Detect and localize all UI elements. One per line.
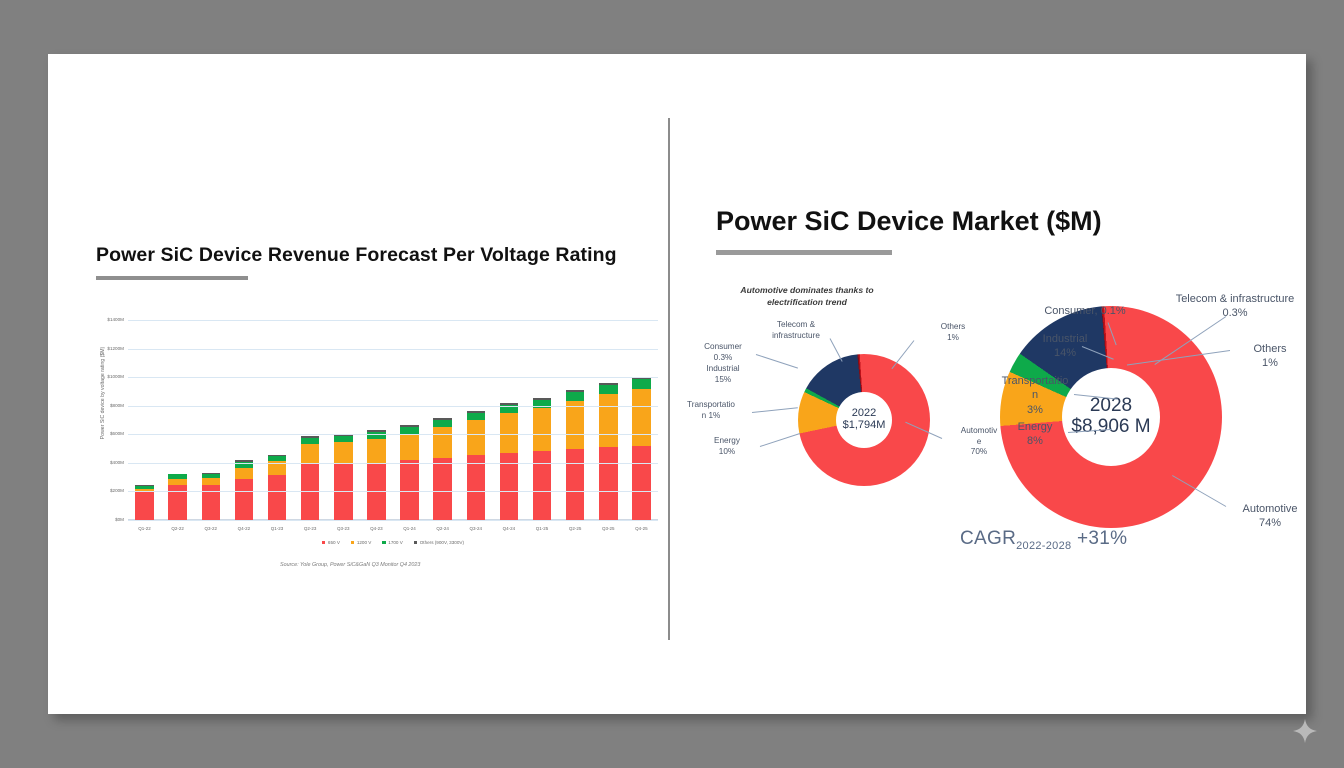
- cagr-annotation: CAGR2022-2028 +31%: [960, 528, 1127, 552]
- legend-item: 1200 V: [351, 540, 371, 545]
- y-axis-tick-label: $1400M: [80, 317, 124, 322]
- stacked-bar: [467, 411, 486, 520]
- y-axis-tick-label: $400M: [80, 460, 124, 465]
- y-axis-tick-label: $800M: [80, 403, 124, 408]
- x-axis-tick-label: Q4-25: [625, 526, 658, 531]
- legend-swatch: [322, 541, 325, 544]
- bar-segment: [400, 427, 419, 434]
- legend-label: 1700 V: [388, 540, 403, 545]
- legend-label: Others (900V, 3300V): [420, 540, 464, 545]
- bar-segment: [467, 455, 486, 520]
- grid-line: [128, 377, 658, 378]
- bar-slot: [592, 320, 625, 520]
- bar-segment: [433, 458, 452, 520]
- donut-2022-slice-label: Telecom & infrastructure: [758, 320, 834, 341]
- bar-segment: [632, 379, 651, 388]
- legend-swatch: [351, 541, 354, 544]
- donut-2022-slice-label: Consumer 0.3%: [692, 342, 754, 363]
- grid-line: [128, 463, 658, 464]
- bar-slot: [194, 320, 227, 520]
- bar-segment: [500, 413, 519, 453]
- bar-slot: [360, 320, 393, 520]
- legend-label: 650 V: [328, 540, 340, 545]
- bar-slot: [426, 320, 459, 520]
- x-axis-tick-label: Q1-22: [128, 526, 161, 531]
- y-axis-tick-label: $600M: [80, 431, 124, 436]
- donut-2028-slice-label: Transportaitio n 3%: [990, 374, 1080, 417]
- bar-slot: [526, 320, 559, 520]
- donut-2022-slice-label: Transportatio n 1%: [672, 400, 750, 421]
- bar-segment: [632, 389, 651, 446]
- donut-2028-year: 2028: [1090, 396, 1132, 417]
- right-title-rule: [716, 250, 892, 255]
- grid-line: [128, 434, 658, 435]
- bar-slot: [261, 320, 294, 520]
- legend-swatch: [414, 541, 417, 544]
- stacked-bar: [301, 436, 320, 520]
- stacked-bar: [268, 455, 287, 520]
- x-axis-tick-label: Q4-24: [492, 526, 525, 531]
- bar-slot: [327, 320, 360, 520]
- x-axis-tick-label: Q3-24: [459, 526, 492, 531]
- y-axis-tick-label: $200M: [80, 488, 124, 493]
- stacked-bar: [334, 434, 353, 520]
- legend-label: 1200 V: [357, 540, 372, 545]
- x-axis-tick-label: Q4-22: [227, 526, 260, 531]
- bar-segment: [433, 420, 452, 427]
- donut-2028-slice-label: Others 1%: [1238, 342, 1302, 371]
- cagr-label: CAGR: [960, 528, 1016, 549]
- bar-slot: [492, 320, 525, 520]
- grid-line: [128, 406, 658, 407]
- donut-2028-value: $8,906 M: [1071, 417, 1150, 438]
- slide-canvas: Power SiC Device Revenue Forecast Per Vo…: [48, 54, 1306, 714]
- donut-2022-value: $1,794M: [843, 420, 886, 432]
- y-axis-tick-label: $1200M: [80, 346, 124, 351]
- stacked-bar: [202, 473, 221, 520]
- donut-2028-slice-label: Energy 8%: [1000, 420, 1070, 449]
- bar-segment: [599, 447, 618, 520]
- bar-chart: Power SiC device by voltage rating ($M) …: [70, 312, 666, 562]
- donut-2022-center: 2022 $1,794M: [836, 392, 892, 448]
- left-chart-title: Power SiC Device Revenue Forecast Per Vo…: [96, 244, 656, 267]
- stacked-bar: [135, 485, 154, 520]
- leader-line: [760, 433, 800, 447]
- stacked-bar: [367, 430, 386, 520]
- donut-2028-slice-label: Consumer, 0.1%: [1020, 304, 1150, 318]
- x-axis-tick-label: Q2-23: [294, 526, 327, 531]
- source-note: Source: Yole Group, Power SiC&GaN Q3 Mon…: [280, 562, 620, 568]
- bar-segment: [467, 413, 486, 420]
- x-axis-tick-label: Q3-25: [592, 526, 625, 531]
- bar-slot: [227, 320, 260, 520]
- bar-segment: [400, 460, 419, 520]
- x-axis-tick-label: Q2-24: [426, 526, 459, 531]
- grid-line: [128, 491, 658, 492]
- right-chart-title: Power SiC Device Market ($M): [716, 206, 1102, 237]
- donut-chart-2022: 2022 $1,794M: [798, 354, 930, 486]
- bar-segment: [202, 485, 221, 520]
- bar-slot: [393, 320, 426, 520]
- legend-item: 650 V: [322, 540, 340, 545]
- bar-segment: [301, 444, 320, 463]
- cagr-period: 2022-2028: [1016, 540, 1071, 552]
- bar-segment: [533, 408, 552, 452]
- stacked-bar: [566, 390, 585, 520]
- bar-segment: [235, 468, 254, 479]
- leader-line: [756, 354, 798, 369]
- legend-item: Others (900V, 3300V): [414, 540, 464, 545]
- bar-series-container: [128, 320, 658, 520]
- donut-2022-slice-label: Others 1%: [928, 322, 978, 343]
- bar-slot: [294, 320, 327, 520]
- donut-2028-slice-label: Automotive 74%: [1230, 502, 1310, 531]
- bar-segment: [599, 394, 618, 448]
- stacked-bar: [500, 403, 519, 520]
- bar-segment: [268, 475, 287, 520]
- x-axis-tick-labels: Q1-22Q2-22Q3-22Q4-22Q1-23Q2-23Q3-23Q4-23…: [128, 526, 658, 531]
- bar-segment: [599, 385, 618, 394]
- bar-segment: [367, 432, 386, 439]
- cagr-value: +31%: [1077, 528, 1127, 549]
- bar-segment: [400, 434, 419, 460]
- bar-segment: [533, 451, 552, 520]
- y-axis-tick-label: $0M: [80, 517, 124, 522]
- donut-2022-slice-label: Energy 10%: [696, 436, 758, 457]
- bar-segment: [235, 479, 254, 520]
- grid-line: [128, 320, 658, 321]
- x-axis-tick-label: Q3-23: [327, 526, 360, 531]
- x-axis-tick-label: Q1-23: [261, 526, 294, 531]
- bar-chart-plot-area: $0M$200M$400M$600M$800M$1000M$1200M$1400…: [128, 320, 658, 520]
- donut-2022-slice-label: Industrial 15%: [688, 364, 758, 385]
- legend-item: 1700 V: [382, 540, 402, 545]
- stacked-bar: [235, 460, 254, 520]
- stacked-bar: [400, 425, 419, 520]
- right-panel: Power SiC Device Market ($M) Automotive …: [670, 54, 1306, 714]
- x-axis-tick-label: Q2-25: [559, 526, 592, 531]
- donut-2028-slice-label: Telecom & infrastructure 0.3%: [1150, 292, 1320, 321]
- stacked-bar: [168, 474, 187, 520]
- bar-slot: [625, 320, 658, 520]
- bar-segment: [135, 492, 154, 520]
- stacked-bar: [533, 398, 552, 520]
- left-title-rule: [96, 276, 248, 280]
- x-axis-tick-label: Q4-23: [360, 526, 393, 531]
- bar-segment: [367, 439, 386, 463]
- bar-chart-yaxis-title: Power SiC device by voltage rating ($M): [100, 318, 106, 468]
- bar-segment: [168, 485, 187, 520]
- legend-swatch: [382, 541, 385, 544]
- bar-segment: [566, 449, 585, 520]
- stacked-bar: [632, 377, 651, 520]
- grid-line: [128, 349, 658, 350]
- bar-segment: [566, 401, 585, 450]
- sparkle-icon: [1292, 718, 1318, 744]
- bar-slot: [559, 320, 592, 520]
- stacked-bar: [599, 383, 618, 520]
- donut-2028-slice-label: Industrial 14%: [1022, 332, 1108, 361]
- bar-segment: [467, 420, 486, 455]
- x-axis-tick-label: Q2-22: [161, 526, 194, 531]
- bar-slot: [459, 320, 492, 520]
- grid-line: [128, 520, 658, 521]
- bar-slot: [128, 320, 161, 520]
- bar-segment: [433, 427, 452, 458]
- right-subtitle: Automotive dominates thanks to electrifi…: [712, 284, 902, 309]
- left-panel: Power SiC Device Revenue Forecast Per Vo…: [48, 54, 668, 714]
- bar-chart-legend: 650 V1200 V1700 VOthers (900V, 3300V): [128, 540, 658, 545]
- x-axis-tick-label: Q1-24: [393, 526, 426, 531]
- x-axis-tick-label: Q1-25: [526, 526, 559, 531]
- y-axis-tick-label: $1000M: [80, 374, 124, 379]
- bar-segment: [632, 446, 651, 520]
- leader-line: [752, 407, 798, 413]
- bar-segment: [334, 442, 353, 463]
- x-axis-tick-label: Q3-22: [194, 526, 227, 531]
- bar-slot: [161, 320, 194, 520]
- bar-segment: [566, 392, 585, 401]
